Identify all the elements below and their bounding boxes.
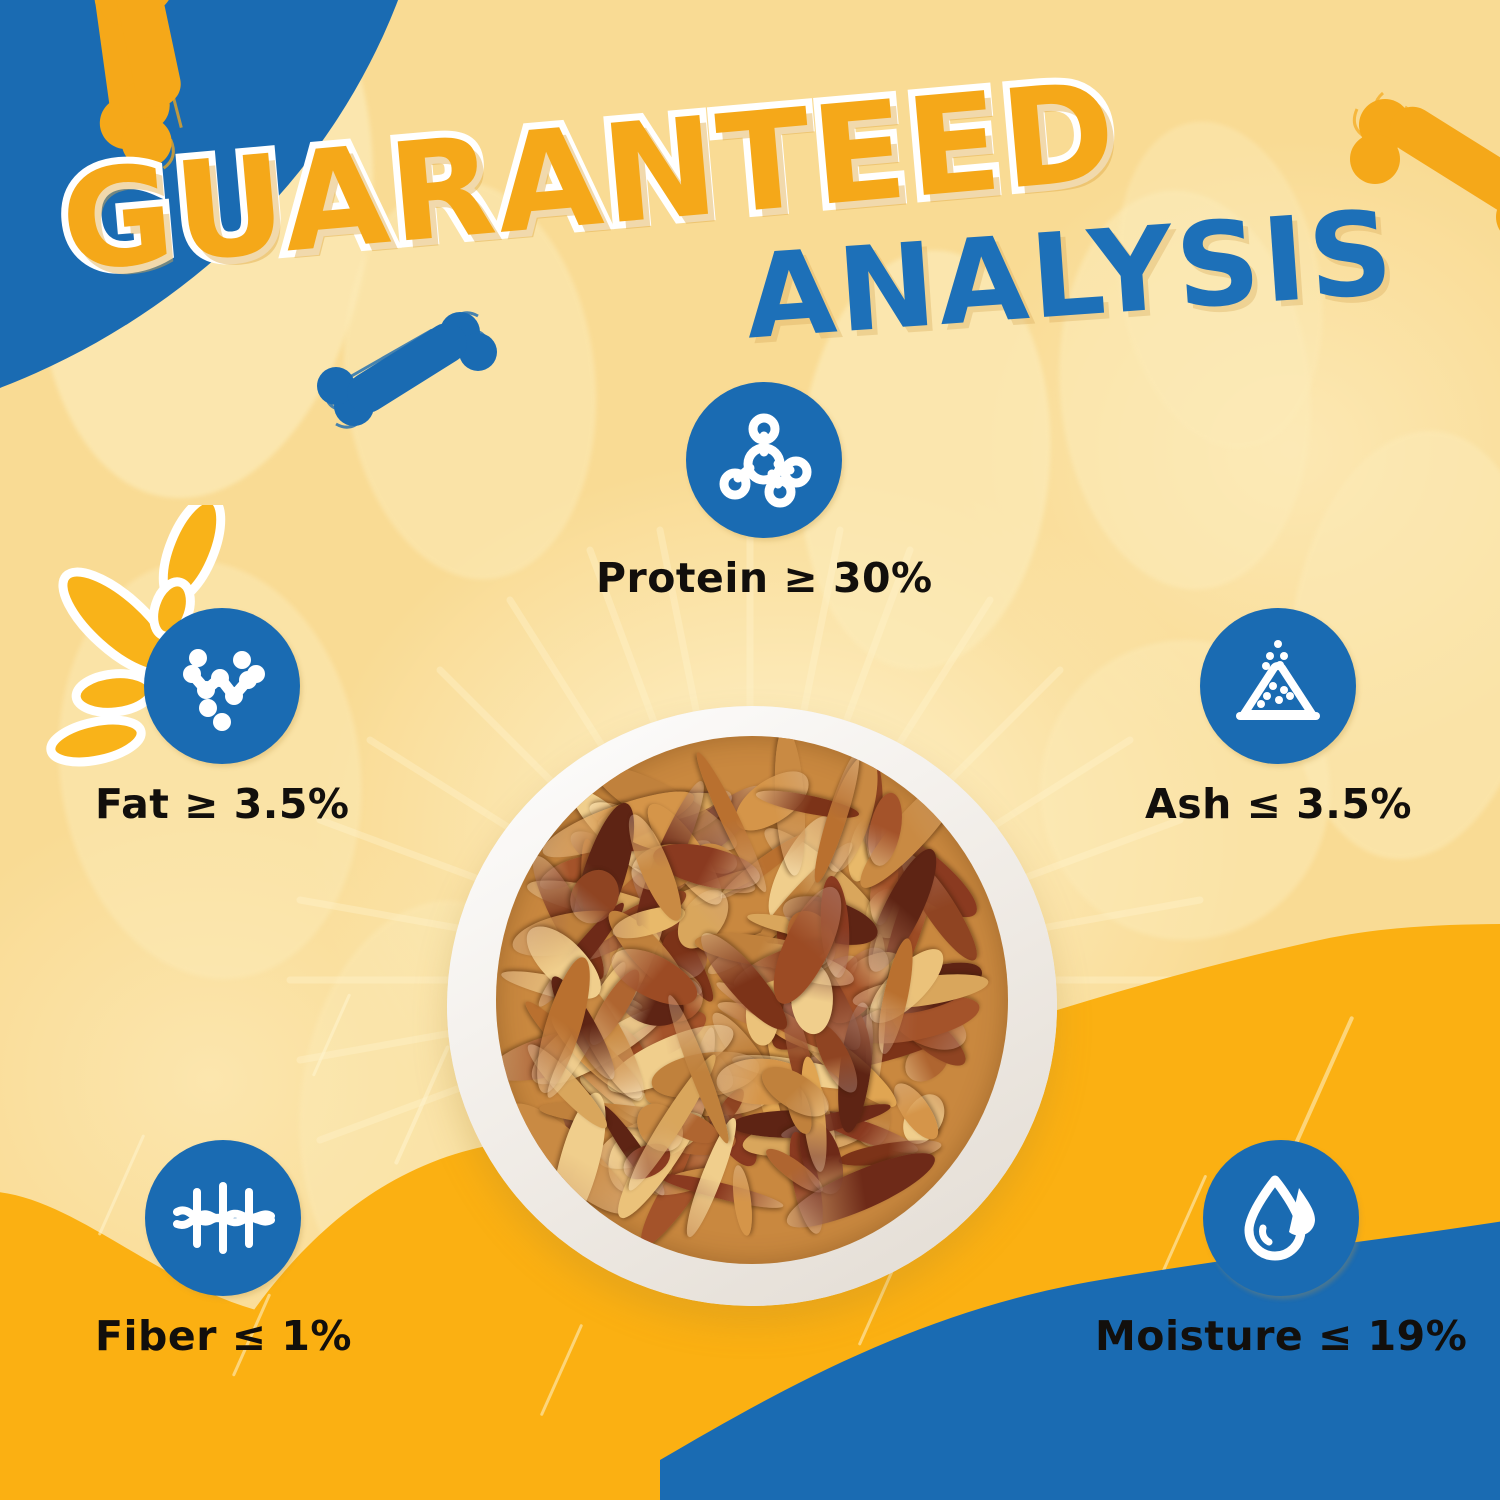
fatty-acid-chain-icon <box>170 634 274 738</box>
stat-fat-label: Fat ≥ 3.5% <box>95 780 349 828</box>
molecule-icon <box>712 408 816 512</box>
stat-fat-icon-circle <box>144 608 300 764</box>
stat-moisture-label: Moisture ≤ 19% <box>1095 1312 1467 1360</box>
ash-pile-icon <box>1226 634 1330 738</box>
stat-protein-icon-circle <box>686 382 842 538</box>
bowl-contents <box>496 736 1008 1264</box>
stat-ash-label: Ash ≤ 3.5% <box>1145 780 1412 828</box>
product-photo-bowl <box>447 706 1057 1306</box>
water-droplet-icon <box>1229 1166 1333 1270</box>
stat-fiber-icon-circle <box>145 1140 301 1296</box>
stat-protein[interactable]: Protein ≥ 30% <box>596 382 933 602</box>
stat-ash-icon-circle <box>1200 608 1356 764</box>
infographic-canvas: GUARANTEED ANALYSIS <box>0 0 1500 1500</box>
stat-protein-label: Protein ≥ 30% <box>596 554 933 602</box>
stat-moisture-icon-circle <box>1203 1140 1359 1296</box>
twisted-fiber-icon <box>169 1166 277 1270</box>
page-title-block: GUARANTEED ANALYSIS <box>0 0 1500 360</box>
stat-fat[interactable]: Fat ≥ 3.5% <box>95 608 349 828</box>
bowl-ceramic <box>447 706 1057 1306</box>
stat-fiber[interactable]: Fiber ≤ 1% <box>95 1140 352 1360</box>
stat-ash[interactable]: Ash ≤ 3.5% <box>1145 608 1412 828</box>
stat-fiber-label: Fiber ≤ 1% <box>95 1312 352 1360</box>
stat-moisture[interactable]: Moisture ≤ 19% <box>1095 1140 1467 1360</box>
